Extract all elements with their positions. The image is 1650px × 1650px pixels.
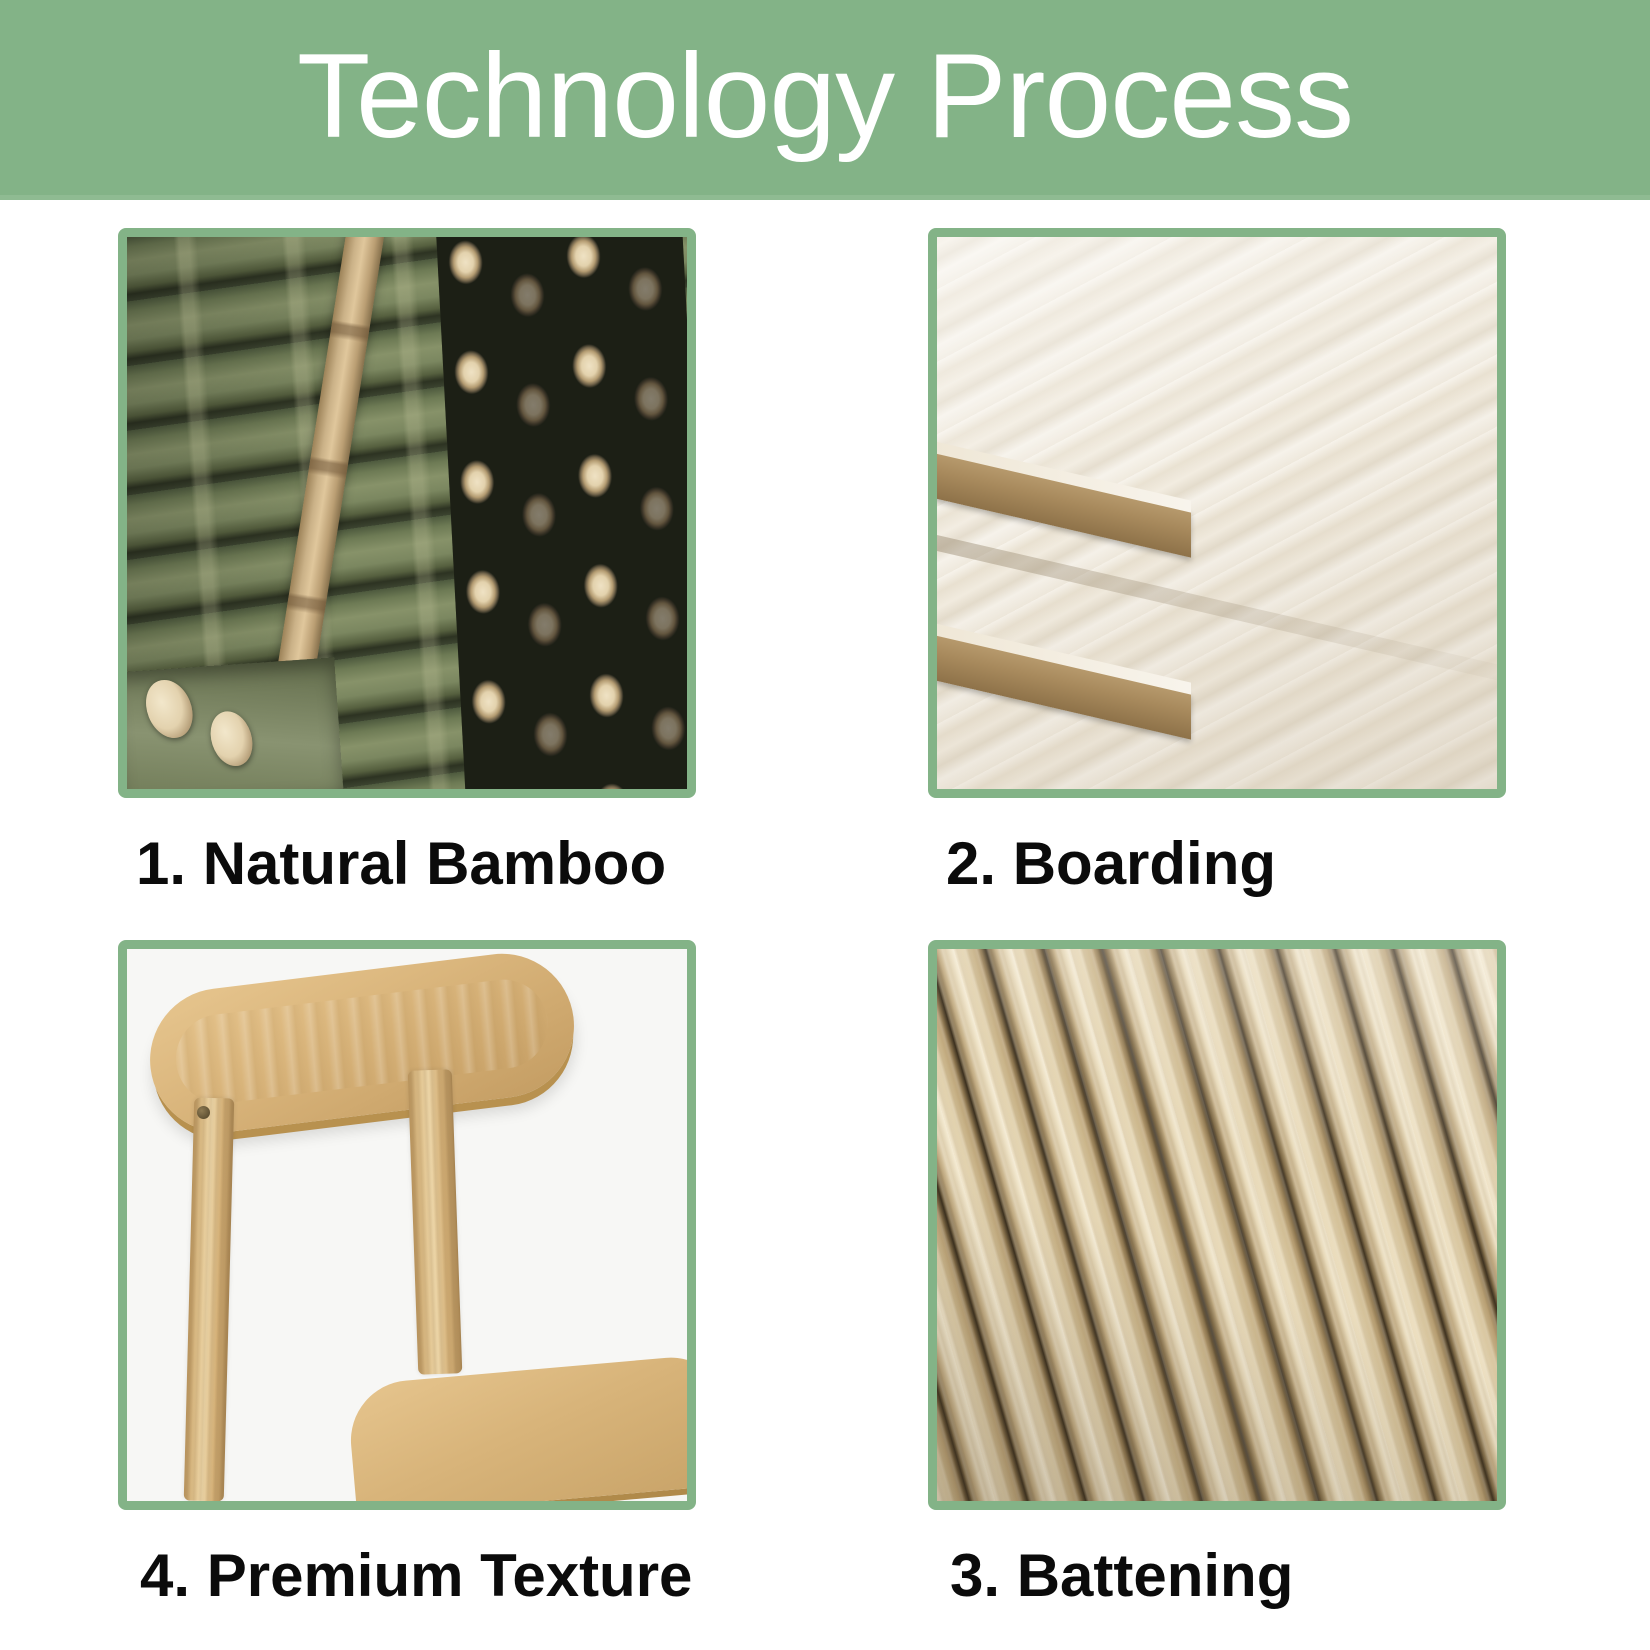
table-lower-shelf xyxy=(346,1352,687,1501)
step-4-image-frame xyxy=(118,940,696,1510)
board-edge-upper xyxy=(937,452,1191,557)
page-title: Technology Process xyxy=(297,36,1353,164)
process-step-4[interactable]: 4. Premium Texture xyxy=(118,940,843,1620)
bamboo-cut-ends xyxy=(436,237,687,789)
bamboo-loose-poles xyxy=(127,657,343,789)
step-4-caption: 4. Premium Texture xyxy=(140,1546,843,1606)
step-3-image-frame xyxy=(928,940,1506,1510)
process-step-2[interactable]: 2. Boarding xyxy=(928,228,1650,908)
process-step-3[interactable]: 3. Battening xyxy=(928,940,1650,1620)
premium-texture-photo xyxy=(127,949,687,1501)
table-leg-left xyxy=(183,1098,234,1501)
process-panel-grid: 1. Natural Bamboo 2. Boarding 4. Premium… xyxy=(0,200,1650,1650)
step-2-caption: 2. Boarding xyxy=(946,834,1650,894)
boarding-photo xyxy=(937,237,1497,789)
board-edge-lower xyxy=(937,634,1191,739)
table-leg-middle xyxy=(407,1070,462,1375)
natural-bamboo-photo xyxy=(127,237,687,789)
battening-photo xyxy=(937,949,1497,1501)
step-1-image-frame xyxy=(118,228,696,798)
step-1-caption: 1. Natural Bamboo xyxy=(136,834,843,894)
step-2-image-frame xyxy=(928,228,1506,798)
process-step-1[interactable]: 1. Natural Bamboo xyxy=(118,228,843,908)
step-3-caption: 3. Battening xyxy=(950,1546,1650,1606)
header-banner: Technology Process xyxy=(0,0,1650,200)
